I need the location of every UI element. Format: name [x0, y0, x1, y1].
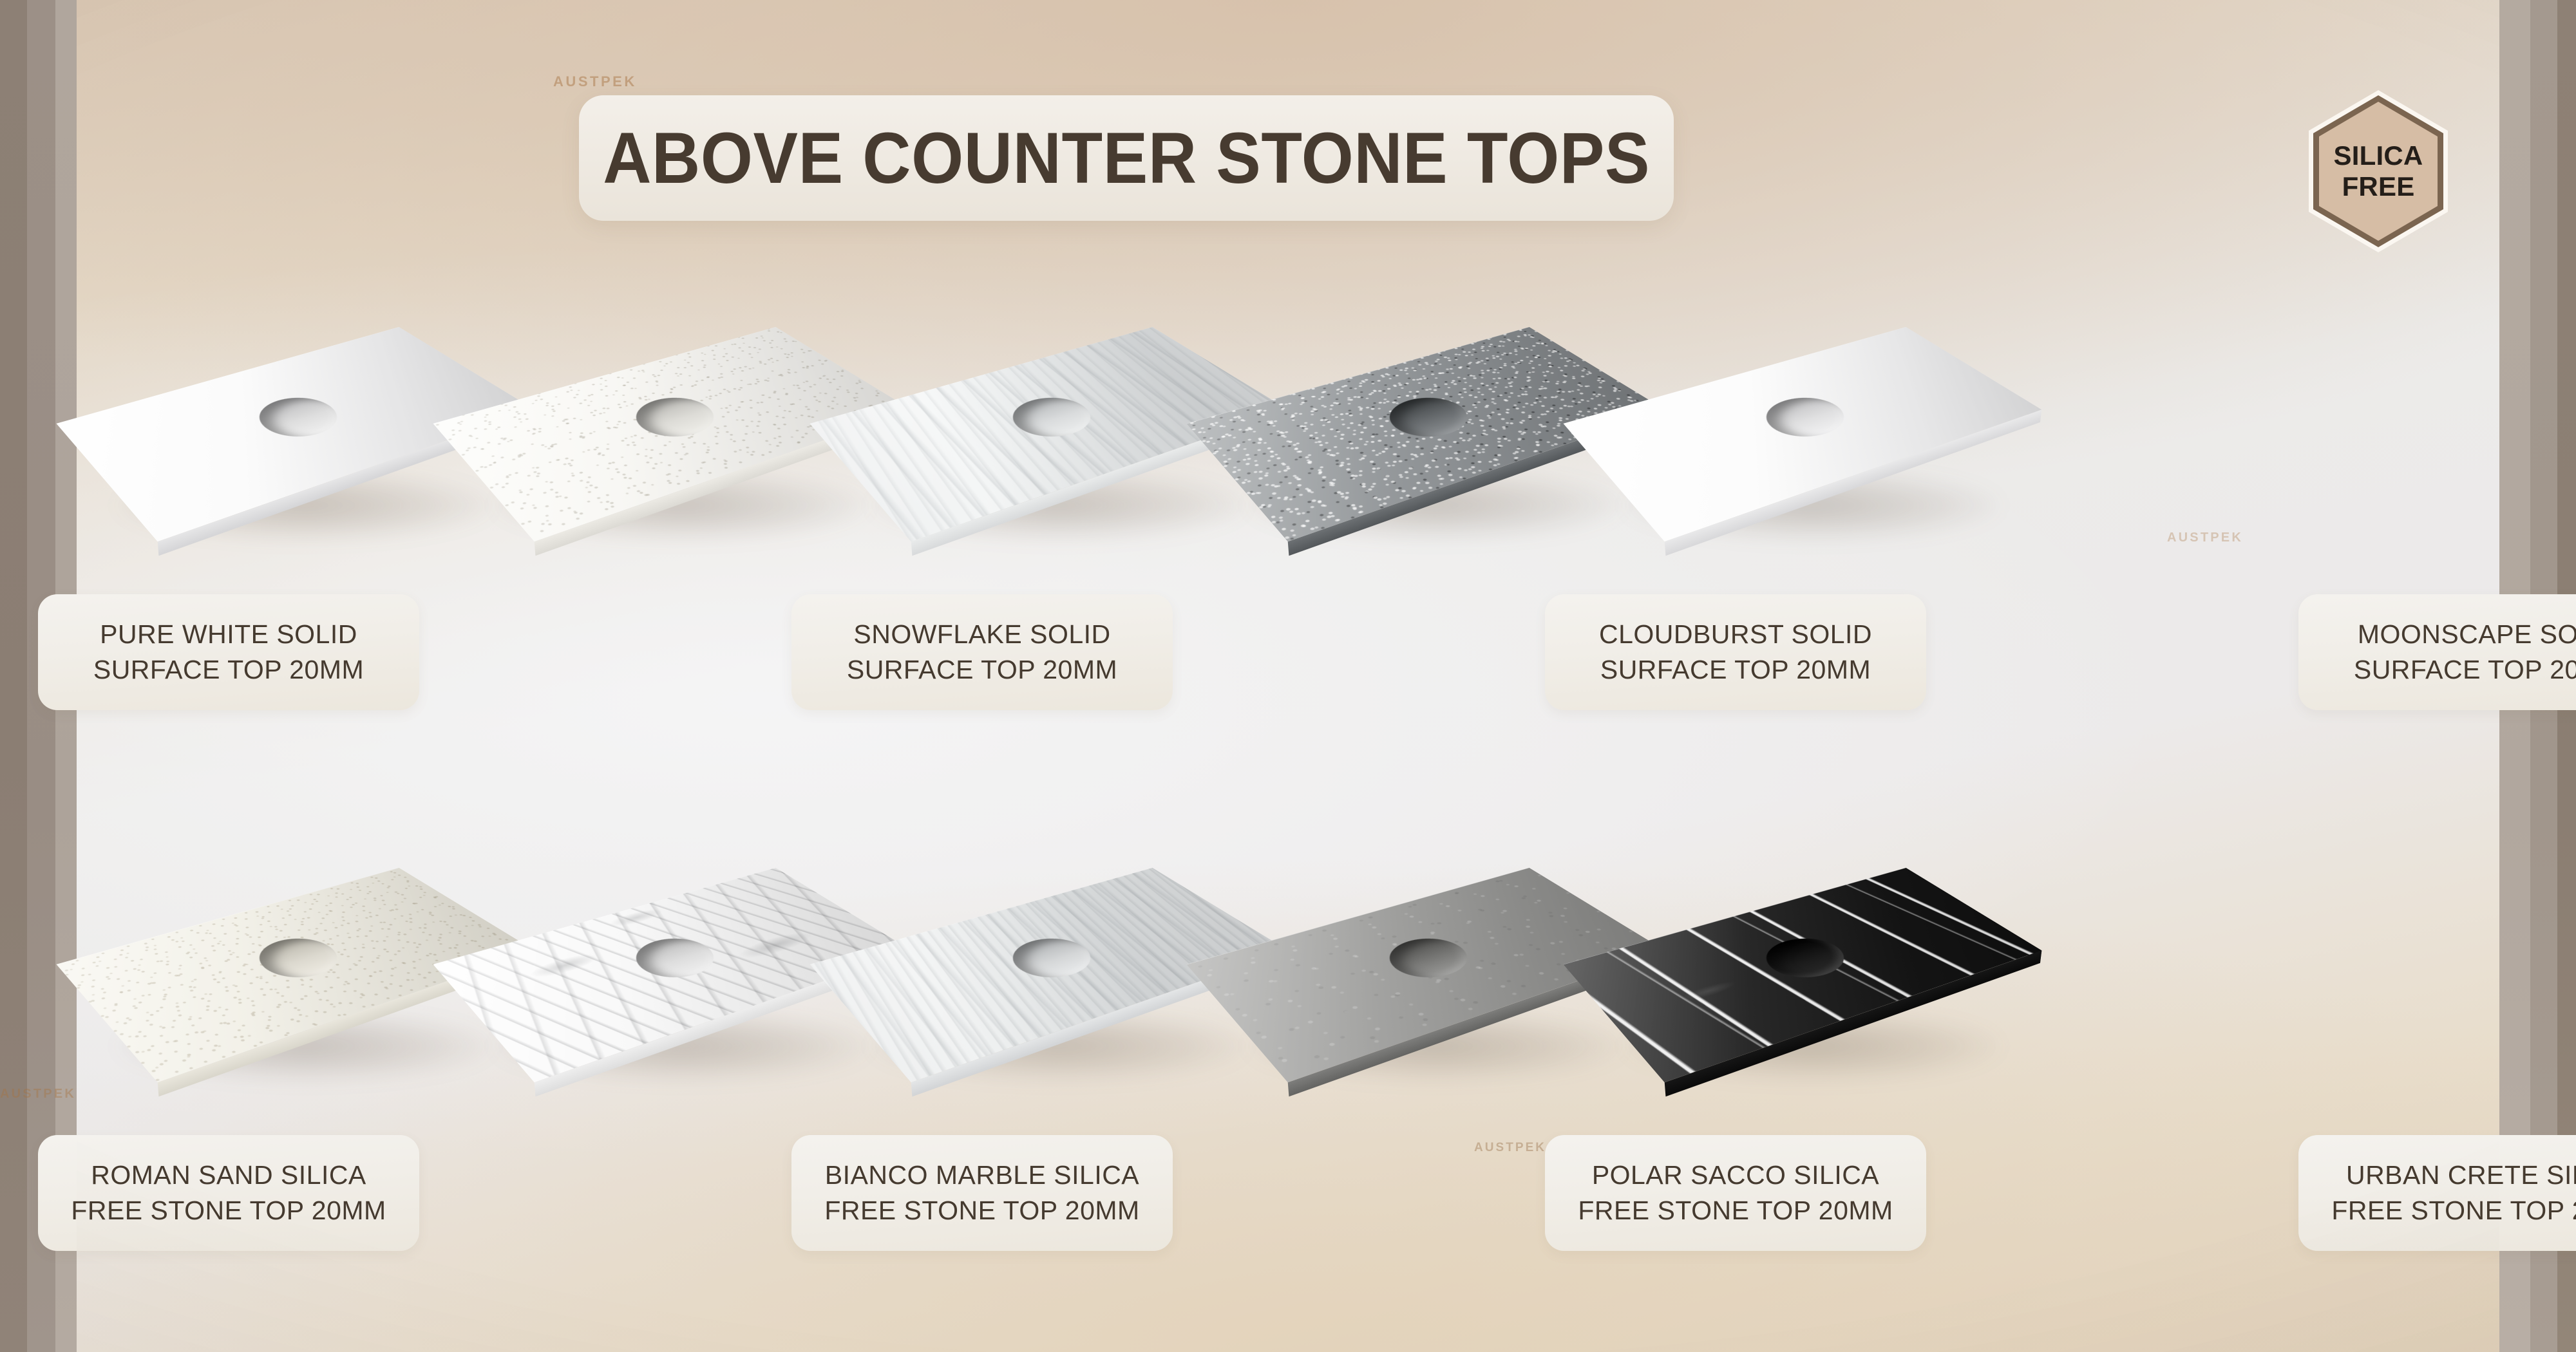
page-title: ABOVE COUNTER STONE TOPS: [603, 122, 1650, 194]
badge-line-1: SILICA: [2334, 142, 2423, 169]
frame-band-left-1: [0, 0, 27, 1352]
poster-canvas: AUSTPEK AUSTPEK ABOVE COUNTER STONE TOPS…: [77, 0, 2499, 1352]
watermark-top: AUSTPEK: [553, 73, 637, 90]
product-name: PURE WHITE SOLID: [100, 621, 357, 648]
product-label-card[interactable]: MOONSCAPE SOLIDSURFACE TOP 20MM: [2298, 594, 2576, 710]
poster-stage: AUSTPEK AUSTPEK ABOVE COUNTER STONE TOPS…: [0, 0, 2576, 1352]
product-spec: FREE STONE TOP 20MM: [2331, 1197, 2576, 1224]
badge-line-2: FREE: [2342, 173, 2415, 200]
silica-free-badge: SILICA FREE: [2309, 90, 2448, 252]
hexagon-badge-icon: SILICA FREE: [2309, 90, 2448, 252]
stone-slab-image: [1584, 818, 2034, 1120]
title-banner: ABOVE COUNTER STONE TOPS: [579, 95, 1674, 221]
product-spec: SURFACE TOP 20MM: [2354, 657, 2576, 683]
product-name: ROMAN SAND SILICA: [91, 1162, 366, 1188]
product-name: URBAN CRETE SILICA: [2346, 1162, 2576, 1188]
stone-slab-image: [1584, 277, 2034, 579]
product-label-card[interactable]: PURE WHITE SOLIDSURFACE TOP 20MM: [38, 594, 419, 710]
product-label-card[interactable]: ROMAN SAND SILICAFREE STONE TOP 20MM: [38, 1135, 419, 1251]
product-spec: SURFACE TOP 20MM: [93, 657, 364, 683]
product-spec: FREE STONE TOP 20MM: [71, 1197, 386, 1224]
product-label-card[interactable]: URBAN CRETE SILICAFREE STONE TOP 20MM: [2298, 1135, 2576, 1251]
product-row-1: PURE WHITE SOLIDSURFACE TOP 20MMSNOWFLAK…: [77, 277, 2499, 728]
product-name: MOONSCAPE SOLID: [2358, 621, 2576, 648]
product-row-2: ROMAN SAND SILICAFREE STONE TOP 20MMBIAN…: [77, 818, 2499, 1268]
watermark-right: AUSTPEK: [2167, 530, 2243, 545]
watermark-bottom-left: AUSTPEK: [0, 1087, 76, 1102]
product-cell[interactable]: CRYSTAL PURE SILICAFREE STONE TOP 20MM: [1584, 277, 2034, 728]
product-cell[interactable]: NERO VENA SILICAFREE STONE TOP 20MM: [1584, 818, 2034, 1268]
